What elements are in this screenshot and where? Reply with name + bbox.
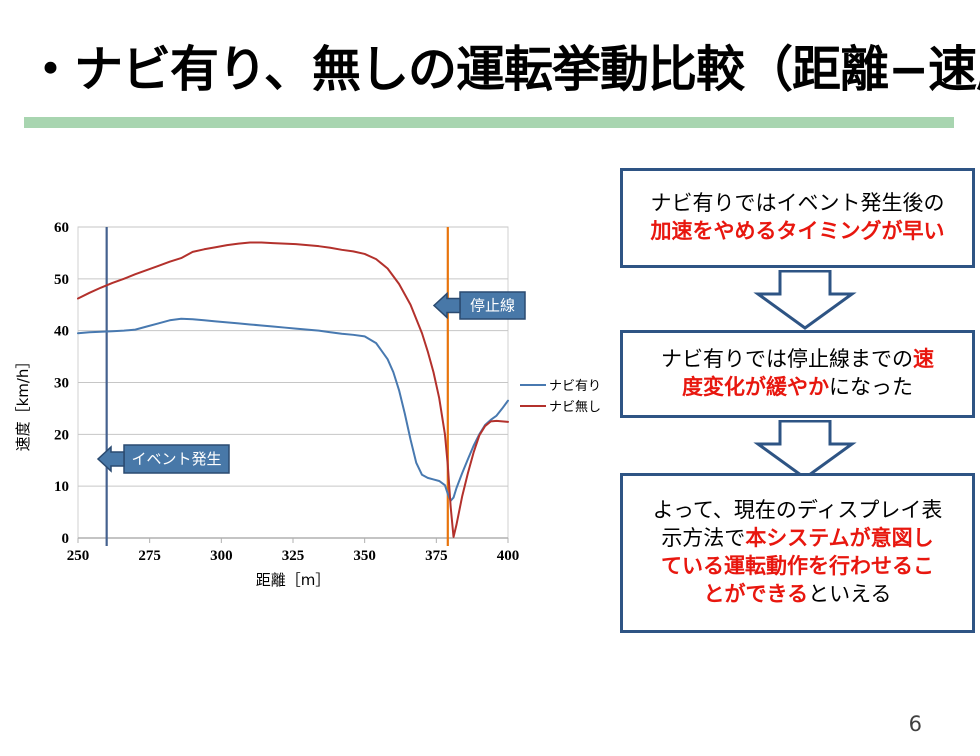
legend-label: ナビ有り bbox=[549, 379, 601, 394]
y-axis-tick-label: 0 bbox=[62, 531, 70, 547]
legend-label: ナビ無し bbox=[549, 400, 601, 415]
conclusion-box-1-text: ナビ有りではイベント発生後の加速をやめるタイミングが早い bbox=[651, 190, 945, 246]
callout-label: 停止線 bbox=[470, 297, 515, 315]
text-line: 度変化が緩やかになった bbox=[661, 374, 934, 402]
highlight-run: 本システムが意図し bbox=[745, 526, 933, 550]
conclusion-box-2-text: ナビ有りでは停止線までの速度変化が緩やかになった bbox=[661, 346, 934, 402]
highlight-run: 度変化が緩やか bbox=[682, 375, 829, 399]
chart-canvas: 0102030405060250275300325350375400距離［m］速… bbox=[0, 180, 620, 600]
page-title: ・ナビ有り、無しの運転挙動比較（距離−速度） bbox=[26, 44, 966, 95]
highlight-run: 速 bbox=[913, 347, 934, 371]
text-run: になった bbox=[829, 375, 913, 399]
text-run: といえる bbox=[808, 582, 891, 606]
conclusion-box-3: よって、現在のディスプレイ表示方法で本システムが意図している運転動作を行わせるこ… bbox=[620, 473, 975, 633]
text-run: よって、現在のディスプレイ表 bbox=[653, 498, 943, 522]
conclusion-box-2: ナビ有りでは停止線までの速度変化が緩やかになった bbox=[620, 330, 975, 418]
x-axis-tick-label: 325 bbox=[282, 548, 305, 564]
y-axis-title: 速度［km/h］ bbox=[14, 354, 32, 452]
text-run: 示方法で bbox=[661, 526, 745, 550]
text-line: とができるといえる bbox=[653, 581, 943, 609]
y-axis-tick-label: 10 bbox=[54, 479, 69, 495]
conclusion-box-1: ナビ有りではイベント発生後の加速をやめるタイミングが早い bbox=[620, 168, 975, 268]
conclusion-box-3-text: よって、現在のディスプレイ表示方法で本システムが意図している運転動作を行わせるこ… bbox=[653, 497, 943, 609]
y-axis-tick-label: 30 bbox=[54, 376, 69, 392]
text-line: ナビ有りでは停止線までの速 bbox=[661, 346, 934, 374]
text-run: ナビ有りではイベント発生後の bbox=[651, 191, 945, 215]
y-axis-tick-label: 20 bbox=[54, 427, 69, 443]
text-run: ナビ有りでは停止線までの bbox=[661, 347, 913, 371]
text-line: 加速をやめるタイミングが早い bbox=[651, 218, 945, 246]
x-axis-tick-label: 275 bbox=[138, 548, 161, 564]
text-line: ナビ有りではイベント発生後の bbox=[651, 190, 945, 218]
highlight-run: ている運転動作を行わせるこ bbox=[661, 554, 934, 578]
text-line: よって、現在のディスプレイ表 bbox=[653, 497, 943, 525]
x-axis-title: 距離［m］ bbox=[256, 571, 331, 589]
highlight-run: 加速をやめるタイミングが早い bbox=[651, 219, 945, 243]
x-axis-tick-label: 375 bbox=[425, 548, 448, 564]
down-arrow-connector-1 bbox=[740, 270, 870, 332]
highlight-run: とができる bbox=[704, 582, 809, 606]
speed-distance-chart: 0102030405060250275300325350375400距離［m］速… bbox=[0, 180, 620, 600]
y-axis-tick-label: 50 bbox=[54, 272, 69, 288]
chart-legend: ナビ有りナビ無し bbox=[520, 379, 601, 415]
callout-label: イベント発生 bbox=[131, 450, 221, 468]
y-axis-tick-label: 60 bbox=[54, 220, 69, 236]
x-axis-tick-label: 300 bbox=[210, 548, 233, 564]
y-axis-tick-label: 40 bbox=[54, 324, 69, 340]
stop-line-callout: 停止線 bbox=[434, 292, 525, 319]
page-number: 6 bbox=[909, 712, 922, 736]
x-axis-tick-label: 250 bbox=[67, 548, 90, 564]
x-axis-tick-label: 350 bbox=[353, 548, 376, 564]
text-line: ている運転動作を行わせるこ bbox=[653, 553, 943, 581]
x-axis-tick-label: 400 bbox=[497, 548, 520, 564]
text-line: 示方法で本システムが意図し bbox=[653, 525, 943, 553]
title-underline-bar bbox=[24, 117, 954, 128]
